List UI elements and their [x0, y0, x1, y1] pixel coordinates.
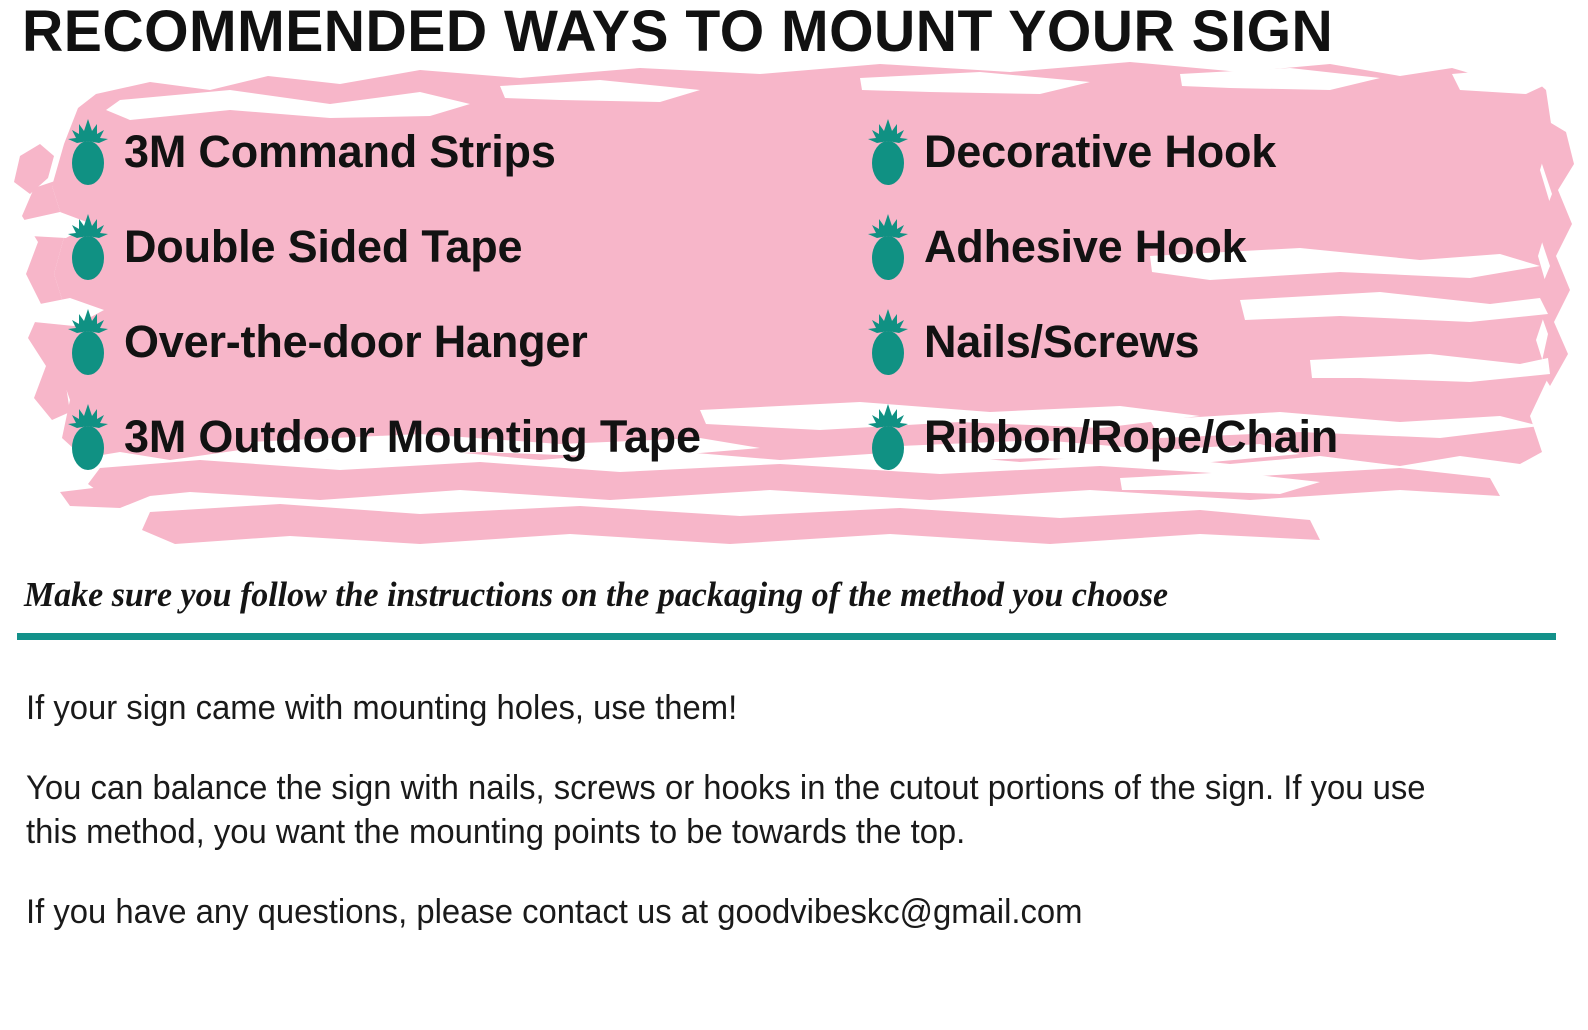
list-item: Over-the-door Hanger [66, 294, 826, 389]
pineapple-icon [866, 309, 910, 375]
mount-methods-right-column: Decorative Hook Adhesive Hook [866, 104, 1566, 484]
page-title: RECOMMENDED WAYS TO MOUNT YOUR SIGN [22, 2, 1543, 62]
body-paragraph-contact: If you have any questions, please contac… [26, 890, 1493, 934]
method-label: 3M Command Strips [124, 127, 556, 177]
teal-divider [17, 633, 1556, 640]
list-item: Ribbon/Rope/Chain [866, 389, 1566, 484]
body-copy: If your sign came with mounting holes, u… [26, 686, 1546, 934]
pineapple-icon [866, 214, 910, 280]
mount-methods-left-column: 3M Command Strips Double Sided Tape [66, 104, 826, 484]
pineapple-icon [866, 119, 910, 185]
method-label: Over-the-door Hanger [124, 317, 588, 367]
method-label: Double Sided Tape [124, 222, 522, 272]
pineapple-icon [66, 119, 110, 185]
method-label: Adhesive Hook [924, 222, 1247, 272]
method-label: Decorative Hook [924, 127, 1276, 177]
list-item: Adhesive Hook [866, 199, 1566, 294]
list-item: Nails/Screws [866, 294, 1566, 389]
list-item: Decorative Hook [866, 104, 1566, 199]
body-paragraph-balance-sign: You can balance the sign with nails, scr… [26, 766, 1483, 854]
method-label: 3M Outdoor Mounting Tape [124, 412, 701, 462]
list-item: Double Sided Tape [66, 199, 826, 294]
method-label: Ribbon/Rope/Chain [924, 412, 1338, 462]
list-item: 3M Command Strips [66, 104, 826, 199]
list-item: 3M Outdoor Mounting Tape [66, 389, 826, 484]
packaging-instruction-note: Make sure you follow the instructions on… [24, 572, 1518, 618]
pineapple-icon [66, 404, 110, 470]
body-paragraph-mounting-holes: If your sign came with mounting holes, u… [26, 686, 1493, 730]
pineapple-icon [66, 309, 110, 375]
mount-methods-list: 3M Command Strips Double Sided Tape [0, 104, 1588, 484]
pineapple-icon [66, 214, 110, 280]
method-label: Nails/Screws [924, 317, 1199, 367]
pineapple-icon [866, 404, 910, 470]
